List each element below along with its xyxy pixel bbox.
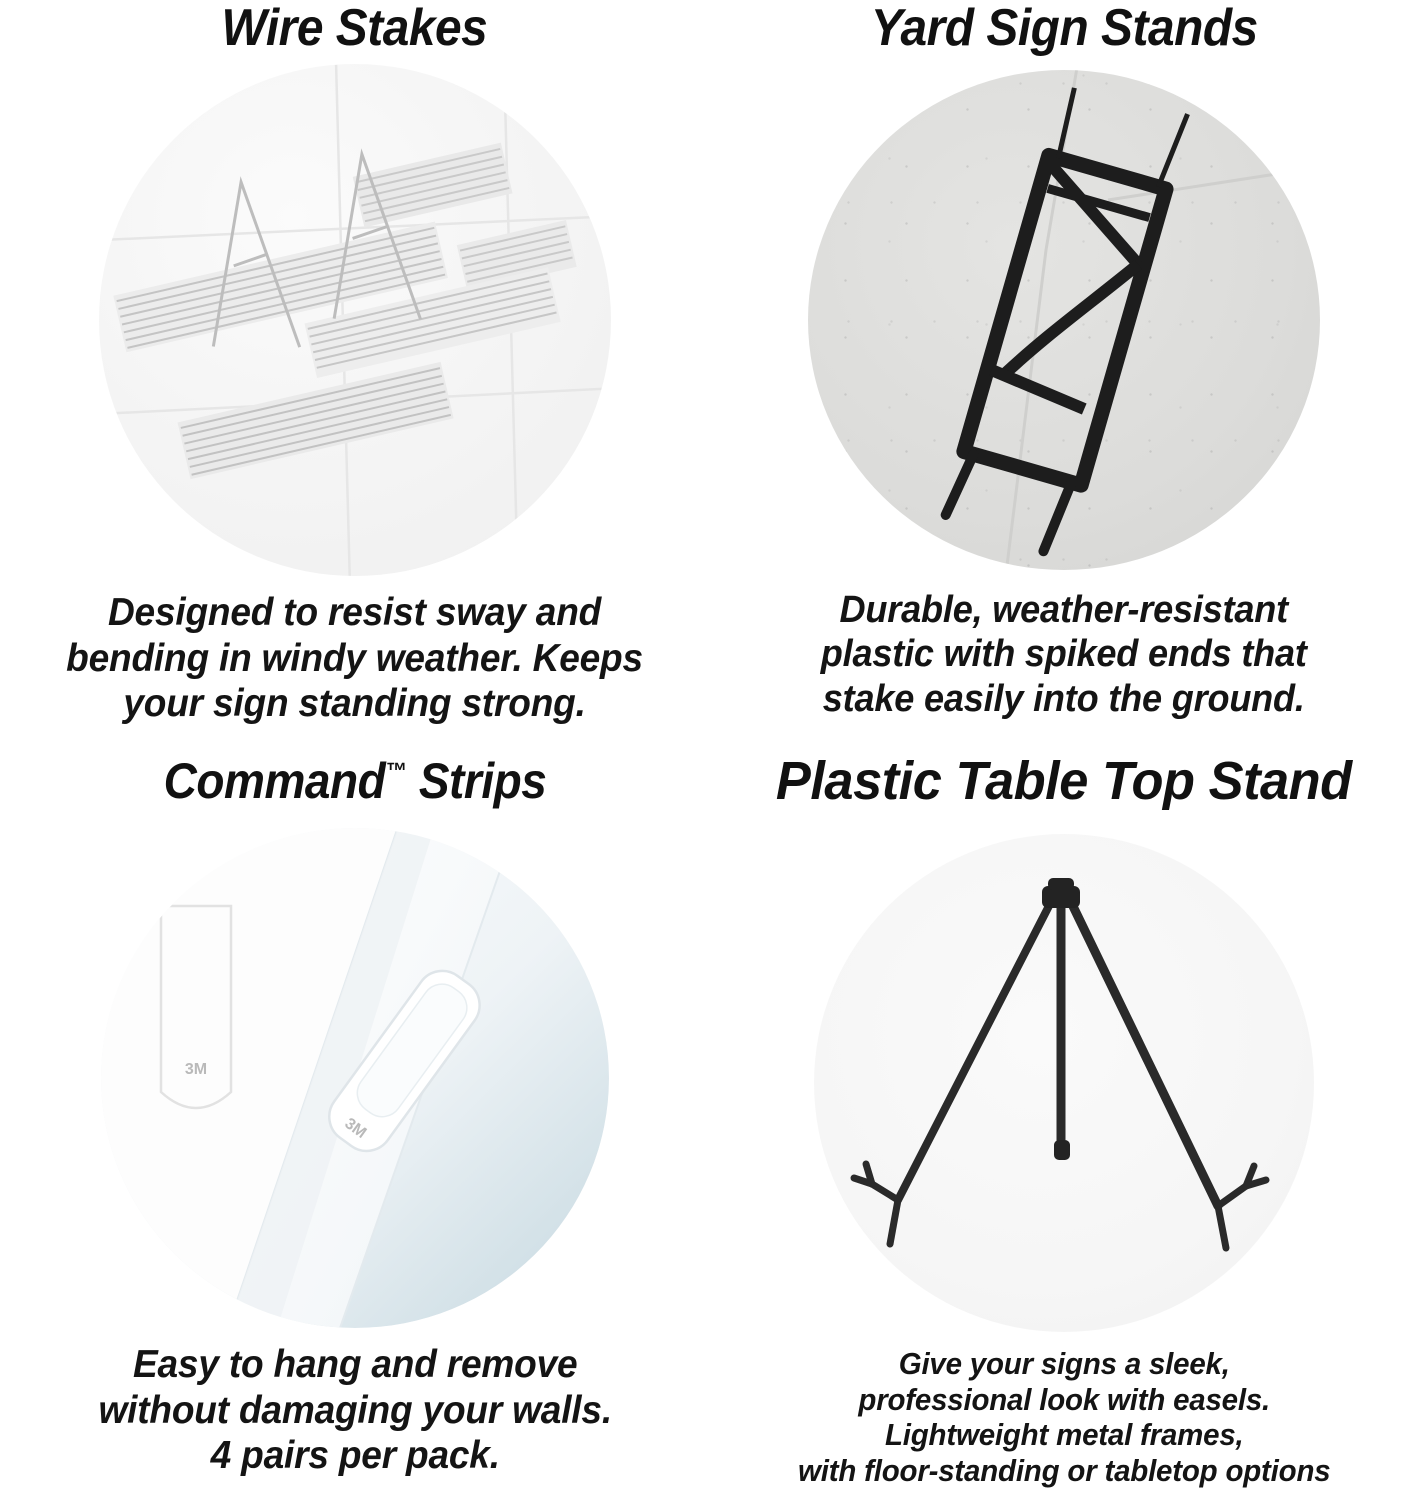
panel-command-strips: Command™ Strips (0, 750, 710, 1500)
command-strips-illustration: 3M 3M (101, 828, 609, 1328)
caption-line: Lightweight metal frames, (798, 1417, 1330, 1453)
command-strips-photo: 3M 3M (101, 828, 609, 1328)
yard-sign-stand-illustration (808, 70, 1320, 570)
panel-title-plastic-table-top-stand: Plastic Table Top Stand (776, 754, 1352, 808)
trademark-icon: ™ (385, 757, 406, 783)
caption-line: plastic with spiked ends that (821, 632, 1307, 676)
table-top-easel-photo (814, 834, 1314, 1332)
wire-stakes-illustration (99, 64, 611, 576)
caption-line: your sign standing strong. (66, 681, 643, 727)
caption-line: professional look with easels. (798, 1382, 1330, 1418)
panel-yard-sign-stands: Yard Sign Stands (710, 0, 1419, 750)
product-features-infographic: Wire Stakes (0, 0, 1419, 1500)
caption-line: 4 pairs per pack. (98, 1433, 611, 1479)
svg-text:3M: 3M (185, 1061, 207, 1078)
panel-title-yard-sign-stands: Yard Sign Stands (871, 2, 1258, 54)
caption-command-strips: Easy to hang and remove without damaging… (98, 1342, 611, 1479)
caption-line: Give your signs a sleek, (798, 1346, 1330, 1382)
caption-line: Designed to resist sway and (66, 590, 643, 636)
panel-title-command-strips: Command™ Strips (163, 756, 546, 806)
caption-line: bending in windy weather. Keeps (66, 636, 643, 682)
caption-plastic-table-top-stand: Give your signs a sleek, professional lo… (798, 1346, 1330, 1489)
caption-line: with floor-standing or tabletop options (798, 1453, 1330, 1489)
caption-yard-sign-stands: Durable, weather-resistant plastic with … (821, 588, 1307, 721)
panel-title-text: Command (163, 753, 385, 809)
caption-line: Easy to hang and remove (98, 1342, 611, 1388)
panel-title-wire-stakes: Wire Stakes (222, 2, 488, 54)
caption-wire-stakes: Designed to resist sway and bending in w… (66, 590, 643, 727)
panel-wire-stakes: Wire Stakes (0, 0, 710, 750)
caption-line: Durable, weather-resistant (821, 588, 1307, 632)
wire-stakes-photo (99, 64, 611, 576)
caption-line: without damaging your walls. (98, 1388, 611, 1434)
caption-line: stake easily into the ground. (821, 677, 1307, 721)
panel-plastic-table-top-stand: Plastic Table Top Stand (710, 750, 1419, 1500)
panel-title-suffix: Strips (406, 753, 546, 809)
table-top-easel-illustration (814, 834, 1314, 1332)
yard-sign-stand-photo (808, 70, 1320, 570)
